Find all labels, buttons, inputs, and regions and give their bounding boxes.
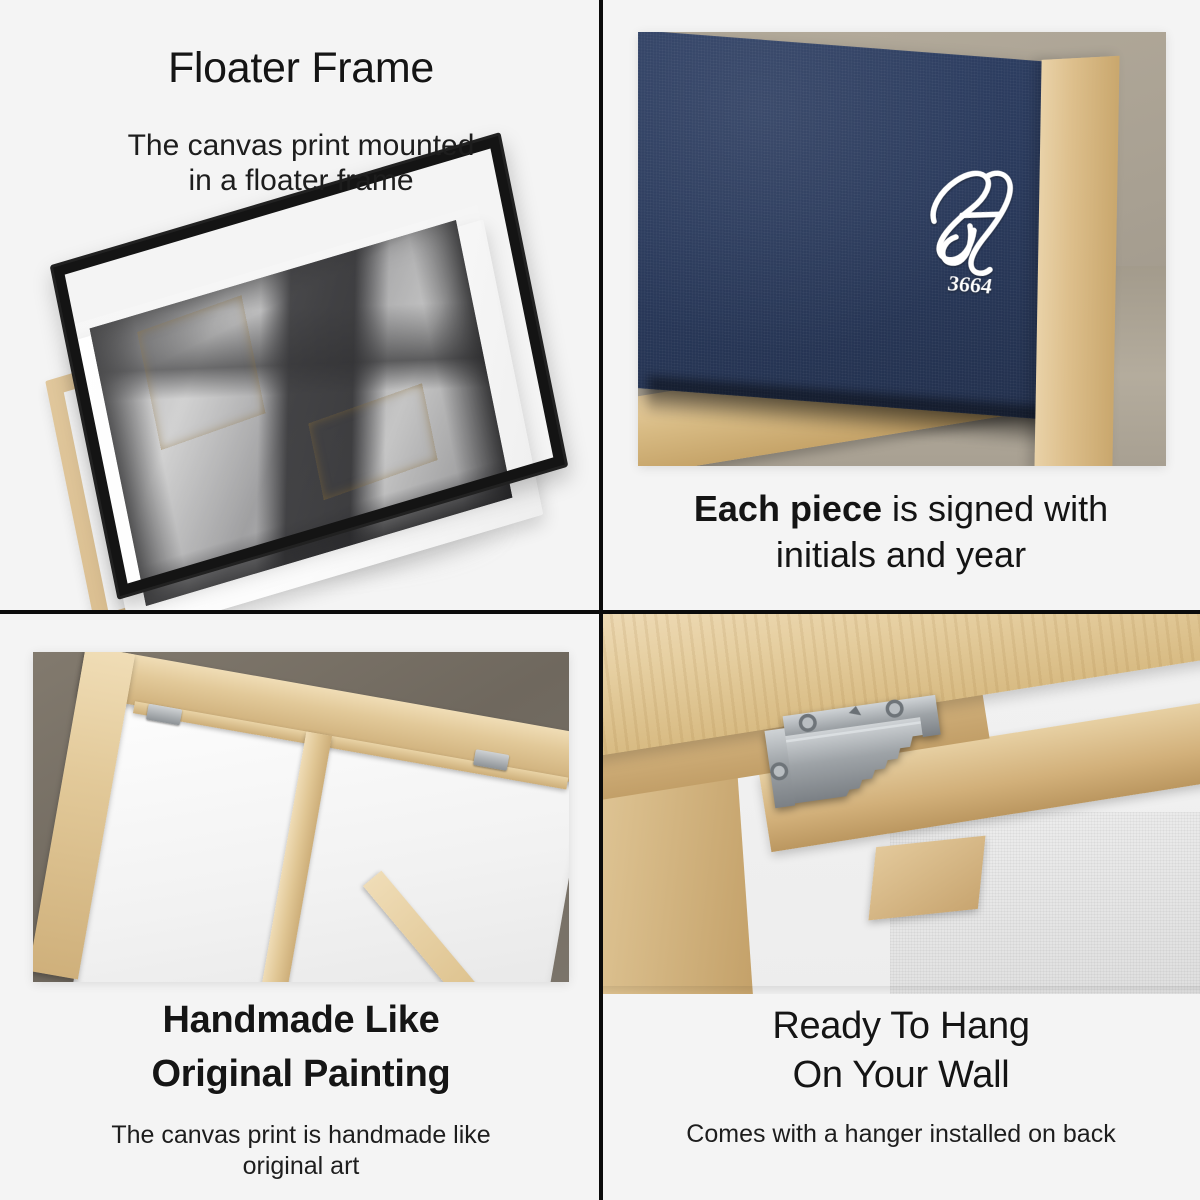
product-feature-infographic: Floater Frame The canvas print mounted i… <box>0 0 1200 1200</box>
caption-emphasis: Each piece <box>694 488 882 529</box>
signature-year-text: 3664 <box>947 270 992 298</box>
subtitle-line-2: original art <box>0 1151 602 1182</box>
photo-bottom-fade <box>602 986 1200 994</box>
panel-caption-signed-piece: Each piece is signed with initials and y… <box>602 486 1200 578</box>
caption-rest: is signed with <box>882 488 1108 529</box>
panel-subtitle-ready-to-hang: Comes with a hanger installed on back <box>602 1120 1200 1150</box>
title-line-2: On Your Wall <box>602 1051 1200 1100</box>
caption-line-1: Each piece is signed with <box>602 486 1200 532</box>
panel-subtitle-handmade: The canvas print is handmade like origin… <box>0 1120 602 1181</box>
canvas-back-photo <box>33 652 569 982</box>
title-line-2: Original Painting <box>0 1048 602 1102</box>
sawtooth-hanger-photo <box>602 612 1200 994</box>
panel-title-ready-to-hang: Ready To Hang On Your Wall <box>602 1002 1200 1099</box>
artist-signature-icon: 3664 <box>900 137 1040 308</box>
subtitle-line-1: The canvas print is handmade like <box>0 1120 602 1151</box>
subtitle-line-2: in a floater frame <box>0 163 602 198</box>
panel-subtitle-floater-frame: The canvas print mounted in a floater fr… <box>0 128 602 199</box>
title-line-1: Handmade Like <box>0 994 602 1048</box>
caption-line-2: initials and year <box>602 532 1200 578</box>
panel-signed-piece: 3664 Each piece is signed with initials … <box>602 0 1200 612</box>
panel-ready-to-hang: Ready To Hang On Your Wall Comes with a … <box>602 612 1200 1200</box>
panel-title-handmade: Handmade Like Original Painting <box>0 994 602 1102</box>
corner-wedge-key <box>868 836 985 921</box>
panel-title-floater-frame: Floater Frame <box>0 46 602 91</box>
panel-handmade: Handmade Like Original Painting The canv… <box>0 612 602 1200</box>
frame-right-rail <box>1034 56 1119 466</box>
title-line-1: Ready To Hang <box>602 1002 1200 1051</box>
stretcher-frame-assembly <box>33 652 569 982</box>
subtitle-line-1: The canvas print mounted <box>0 128 602 163</box>
panel-floater-frame: Floater Frame The canvas print mounted i… <box>0 0 602 612</box>
navy-canvas-corner-photo: 3664 <box>638 32 1166 466</box>
